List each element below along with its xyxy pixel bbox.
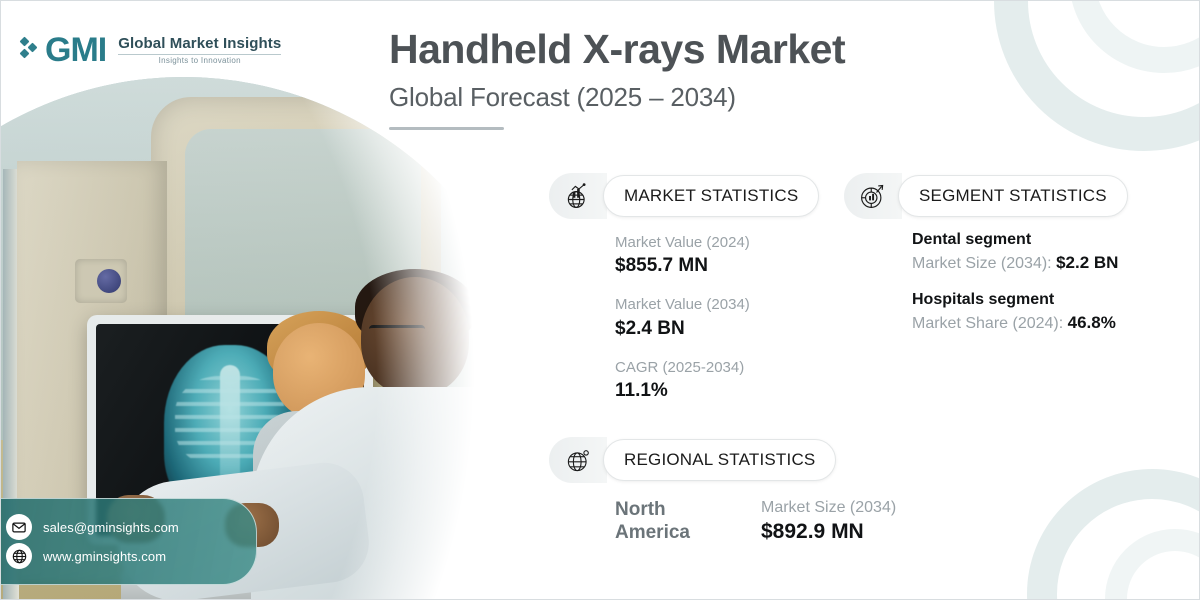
stat-value: $855.7 MN [615,255,819,277]
globe-chart-icon [549,173,607,219]
region-name: North America [615,499,725,545]
brand-text: Global Market Insights Insights to Innov… [118,35,281,65]
regional-statistics-header: REGIONAL STATISTICS [549,437,896,483]
region-metric-label: Market Size (2034) [761,499,896,517]
title-underline [389,127,504,130]
brand-mark: GMI [45,33,106,67]
segment-name: Hospitals segment [912,291,1128,309]
market-statistics-pill: MARKET STATISTICS [603,175,819,217]
market-statistics-label: MARKET STATISTICS [624,186,798,206]
segment-statistics-body: Dental segment Market Size (2034): $2.2 … [844,219,1128,333]
decorative-ring-top-right-inner [1069,0,1200,73]
stat-value: 11.1% [615,380,819,402]
pie-chart-arrow-icon [844,173,902,219]
stat-row: Market Value (2034) $2.4 BN [615,295,819,339]
segment-metric-line: Market Size (2034): $2.2 BN [912,253,1128,273]
section-regional-statistics: REGIONAL STATISTICS North America Market… [549,437,896,545]
brand-tagline: Insights to Innovation [118,56,281,65]
contact-email-row[interactable]: sales@gminsights.com [6,514,240,540]
infographic-page: GMI Global Market Insights Insights to I… [0,0,1200,600]
decorative-ring-top-right-outer [994,0,1200,151]
regional-statistics-pill: REGIONAL STATISTICS [603,439,836,481]
contact-email: sales@gminsights.com [43,520,179,535]
stat-row: Market Value (2024) $855.7 MN [615,233,819,277]
brand-logo[interactable]: GMI Global Market Insights Insights to I… [21,33,281,67]
decorative-ring-bottom-right-inner [1105,529,1200,600]
page-title: Handheld X-rays Market [389,27,845,72]
segment-statistics-header: SEGMENT STATISTICS [844,173,1128,219]
contact-website-row[interactable]: www.gminsights.com [6,543,240,569]
globe-icon [549,437,607,483]
region-metric-value: $892.9 MN [761,520,896,544]
stat-label: Market Value (2024) [615,233,819,253]
segment-metric-line: Market Share (2024): 46.8% [912,313,1128,333]
brand-name: Global Market Insights [118,35,281,52]
segment-row: Hospitals segment Market Share (2024): 4… [912,291,1128,333]
market-statistics-body: Market Value (2024) $855.7 MN Market Val… [549,219,819,402]
stat-label: Market Value (2034) [615,295,819,315]
globe-icon [6,543,32,569]
segment-statistics-pill: SEGMENT STATISTICS [898,175,1128,217]
decorative-ring-bottom-right-outer [1027,469,1200,600]
segment-metric-label: Market Share (2024): [912,315,1063,332]
title-block: Handheld X-rays Market Global Forecast (… [389,27,845,130]
contact-bar: sales@gminsights.com www.gminsights.com [0,498,257,585]
segment-metric-label: Market Size (2034): [912,255,1052,272]
stat-label: CAGR (2025-2034) [615,358,819,378]
page-subtitle: Global Forecast (2025 – 2034) [389,82,845,113]
segment-metric-value: $2.2 BN [1056,253,1118,272]
regional-statistics-label: REGIONAL STATISTICS [624,450,815,470]
segment-metric-value: 46.8% [1068,313,1116,332]
envelope-icon [6,514,32,540]
segment-statistics-label: SEGMENT STATISTICS [919,186,1107,206]
diamonds-icon [21,33,37,67]
regional-statistics-body: North America Market Size (2034) $892.9 … [549,483,896,545]
section-market-statistics: MARKET STATISTICS Market Value (2024) $8… [549,173,819,420]
segment-row: Dental segment Market Size (2034): $2.2 … [912,231,1128,273]
stat-value: $2.4 BN [615,318,819,340]
section-segment-statistics: SEGMENT STATISTICS Dental segment Market… [844,173,1128,351]
contact-website: www.gminsights.com [43,549,166,564]
region-metric-block: Market Size (2034) $892.9 MN [761,499,896,544]
stat-row: CAGR (2025-2034) 11.1% [615,358,819,402]
segment-name: Dental segment [912,231,1128,249]
market-statistics-header: MARKET STATISTICS [549,173,819,219]
brand-divider [118,54,281,55]
